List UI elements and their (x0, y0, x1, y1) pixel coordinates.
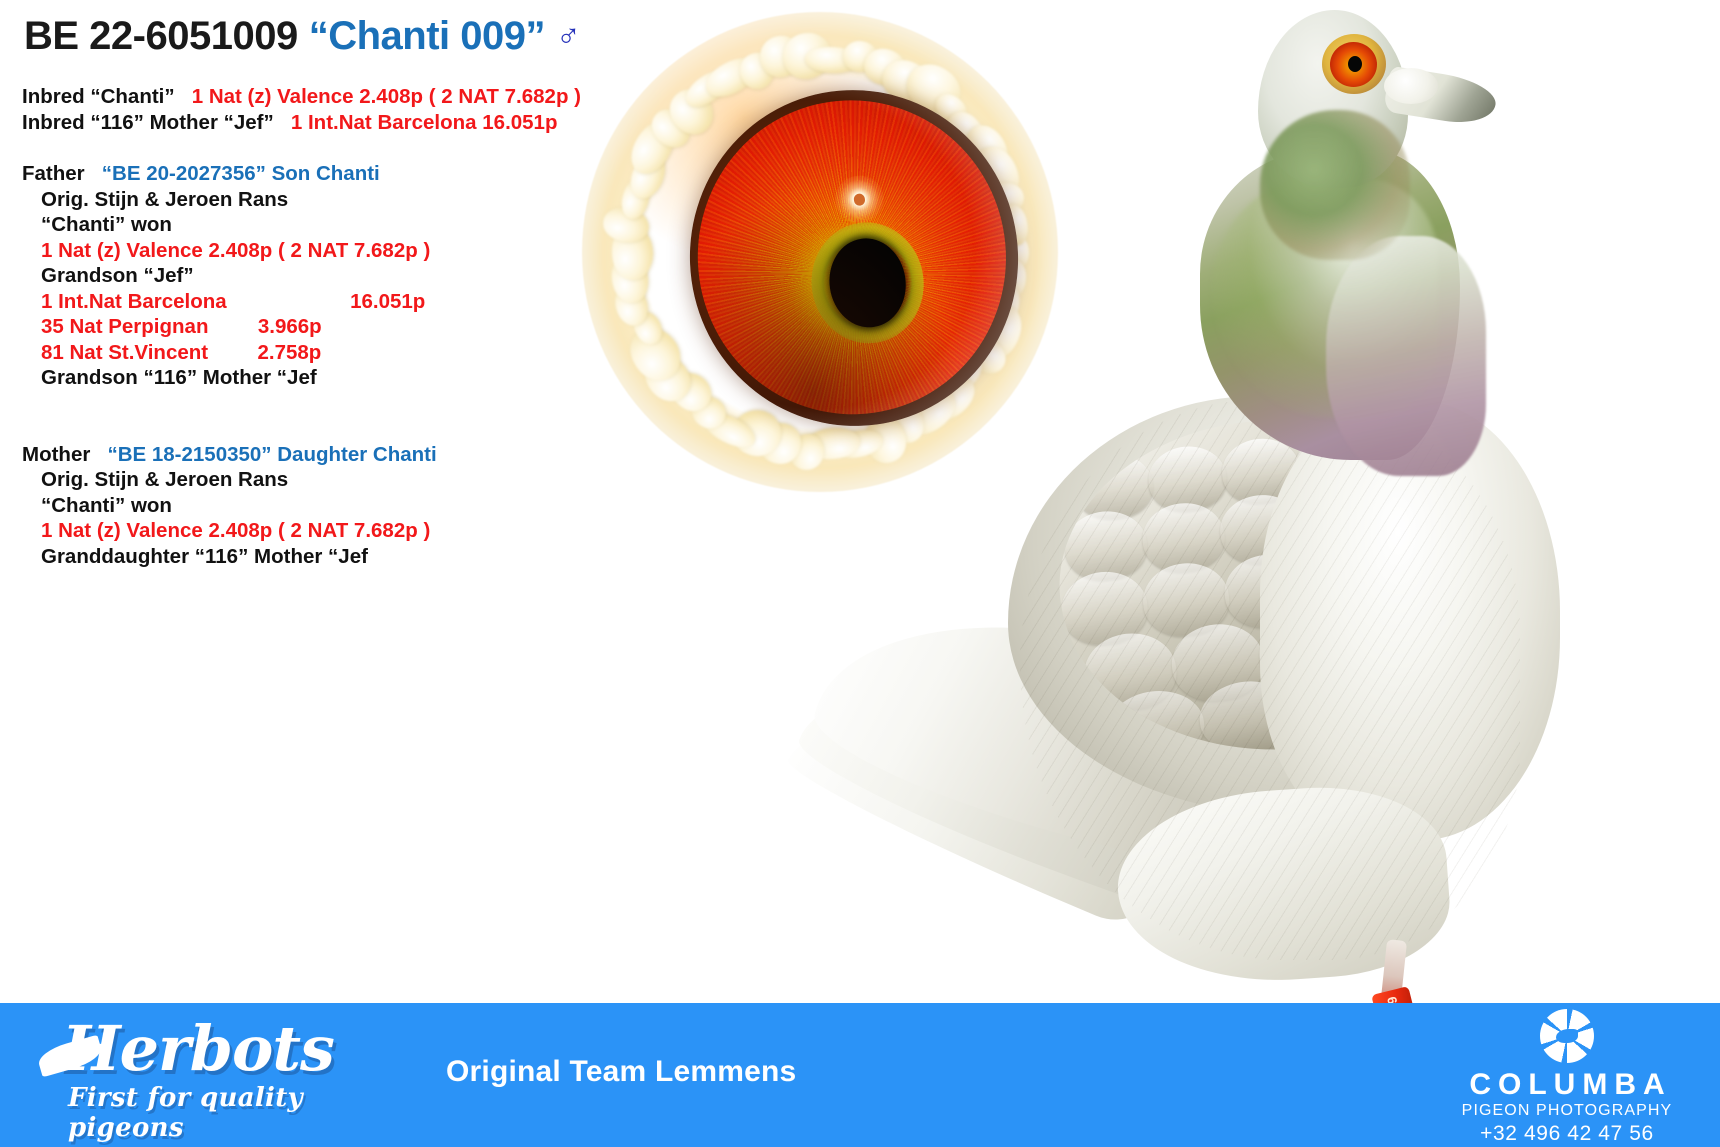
cere-bump (840, 38, 880, 75)
cere-bump (686, 390, 732, 435)
pigeon-head-sheen (1260, 110, 1410, 260)
spacer (22, 391, 662, 417)
cere-bump (788, 432, 824, 470)
cere-bump (999, 203, 1030, 247)
cere-bump (727, 403, 788, 462)
wing-feather (1062, 507, 1151, 583)
wing-feather (1288, 667, 1391, 747)
cere-bump (930, 88, 973, 130)
pigeon-neck-sheen (1212, 178, 1438, 418)
inbred-line: Inbred “116” Mother “Jef” 1 Int.Nat Barc… (22, 110, 662, 136)
cere-bump (700, 52, 763, 105)
mother-heading: Mother “BE 18-2150350” Daughter Chanti (22, 442, 662, 468)
columba-sub: PIGEON PHOTOGRAPHY (1442, 1101, 1692, 1121)
columba-logo[interactable]: COLUMBA PIGEON PHOTOGRAPHY +32 496 42 47… (1442, 1009, 1692, 1146)
cere-bump (943, 349, 989, 397)
pigeon-eye-pupil (1348, 56, 1362, 72)
cere-bump (781, 32, 832, 81)
mother-valence: 1 Nat (z) Valence 2.408p ( 2 NAT 7.682p … (22, 518, 662, 544)
wing-feather (1343, 601, 1442, 686)
cere-bump (680, 64, 734, 113)
father-grandson: Grandson “Jef” (22, 263, 662, 289)
father-ring: “BE 20-2027356” Son Chanti (102, 162, 380, 185)
cere-bump (897, 54, 968, 123)
ring-number: BE 22-6051009 (24, 14, 298, 59)
cere-bump (876, 52, 937, 110)
father-label: Father (22, 162, 85, 185)
father-closing: Grandson “116” Mother “Jef (22, 365, 662, 391)
cere-bump (926, 370, 982, 425)
wing-feather (1058, 568, 1151, 649)
pigeon-underbelly (1112, 779, 1454, 992)
father-heading: Father “BE 20-2027356” Son Chanti (22, 161, 662, 187)
mother-granddaughter: Granddaughter “116” Mother “Jef (22, 544, 662, 570)
wing-feather (1145, 443, 1229, 515)
father-valence: 1 Nat (z) Valence 2.408p ( 2 NAT 7.682p … (22, 238, 662, 264)
eye-green-ring (804, 216, 931, 351)
cere-bump (974, 178, 1027, 223)
pigeon-beak-wattle (1384, 68, 1438, 104)
pigeon-tail (787, 633, 1233, 918)
footer-bar: Herbots First for quality pigeons Origin… (0, 1003, 1720, 1147)
pigeon-flights (801, 576, 1305, 884)
spacer (22, 417, 662, 442)
cere-bump (699, 405, 760, 453)
pigeon-throat (1326, 236, 1486, 476)
pedigree-card: BE 22-6051009 “Chanti 009” ♂ Inbred “Cha… (0, 0, 1720, 1147)
eye-pupil (824, 233, 911, 332)
pigeon-head (1258, 10, 1408, 188)
wing-feather (1219, 435, 1303, 507)
father-chanti-won: “Chanti” won (22, 212, 662, 238)
pigeon-breast (1260, 400, 1560, 840)
cere-bump (960, 118, 1016, 178)
herbots-tagline: First for quality pigeons (62, 1083, 392, 1143)
race-name: 35 Nat Perpignan (41, 315, 208, 338)
cere-bump (757, 420, 805, 468)
cere-bump (735, 48, 779, 93)
cere-bump (977, 276, 1025, 332)
cere-bump (956, 327, 1013, 380)
eye-iris-grain (678, 80, 1027, 434)
wing-feather (1384, 533, 1477, 614)
race-birds: 16.051p (350, 290, 425, 313)
father-result-row: 81 Nat St.Vincent 2.758p (22, 340, 662, 366)
wing-feather (1196, 677, 1299, 757)
eye-globe (668, 69, 1040, 447)
race-birds: 2.758p (258, 341, 322, 364)
wing-feather (1221, 551, 1314, 632)
wing-feather (1379, 658, 1482, 738)
cere-bump (898, 382, 964, 443)
inbred-result: 1 Int.Nat Barcelona 16.051p (291, 111, 558, 134)
pigeon-body (1008, 396, 1528, 816)
pigeon-leg (1381, 939, 1407, 1001)
father-result-row: 1 Int.Nat Barcelona 16.051p (22, 289, 662, 315)
inbred-result: 1 Nat (z) Valence 2.408p ( 2 NAT 7.682p … (192, 85, 581, 108)
pigeon-wing-shield (1044, 398, 1506, 771)
pedigree-text-block: Inbred “Chanti” 1 Nat (z) Valence 2.408p… (22, 84, 662, 569)
pigeon-tail-lower (779, 674, 1193, 937)
cere-bump (882, 396, 931, 448)
father-origin: Orig. Stijn & Jeroen Rans (22, 187, 662, 213)
father-result-row: 35 Nat Perpignan 3.966p (22, 314, 662, 340)
camera-aperture-icon (1540, 1009, 1594, 1063)
eye-sparkle (831, 173, 886, 226)
cere-bump (966, 141, 1026, 208)
race-name: 81 Nat St.Vincent (41, 341, 208, 364)
wing-feather (1303, 542, 1396, 623)
cere-bump (664, 365, 719, 419)
columba-phone: +32 496 42 47 56 (1442, 1121, 1692, 1146)
cere-bump (859, 412, 913, 469)
cere-bump (833, 426, 885, 461)
race-name: 1 Int.Nat Barcelona (41, 290, 227, 313)
wing-feather (1139, 559, 1232, 640)
cere-bump (941, 105, 991, 156)
inbred-label: Inbred “Chanti” (22, 85, 175, 108)
wing-feather (1256, 611, 1355, 696)
race-birds: 3.966p (258, 315, 322, 338)
male-symbol-icon: ♂ (556, 17, 581, 55)
pigeon-eye-iris (1330, 42, 1377, 87)
mother-ring: “BE 18-2150350” Daughter Chanti (107, 443, 436, 466)
cere-bump (805, 46, 862, 76)
wing-feather (1081, 629, 1180, 714)
pigeon-feather-texture (1020, 400, 1520, 960)
cere-bump (661, 81, 722, 143)
wing-feather (1217, 491, 1306, 567)
columba-name: COLUMBA (1442, 1069, 1692, 1101)
herbots-logo[interactable]: Herbots First for quality pigeons (62, 1017, 392, 1135)
wing-feather (1139, 499, 1228, 575)
cere-bump (804, 426, 861, 461)
cere-bump (756, 32, 804, 80)
team-label: Original Team Lemmens (446, 1055, 796, 1089)
wing-feather (1105, 686, 1208, 766)
cere-bump (1003, 235, 1029, 269)
wing-feather (1292, 427, 1376, 499)
pigeon-name: “Chanti 009” (309, 14, 545, 59)
pigeon-eye-ring (1322, 34, 1386, 94)
eye-shadow (668, 69, 1040, 447)
eye-iris (678, 80, 1027, 434)
spacer (22, 135, 662, 161)
wing-feather (1168, 620, 1267, 705)
wing-feather (1294, 483, 1383, 559)
inbred-label: Inbred “116” Mother “Jef” (22, 111, 274, 134)
cere-bump (859, 43, 910, 91)
herbots-brand-name: Herbots (62, 1017, 392, 1081)
inbred-line: Inbred “Chanti” 1 Nat (z) Valence 2.408p… (22, 84, 662, 110)
pigeon-neck (1200, 150, 1460, 460)
page-title: BE 22-6051009 “Chanti 009” ♂ (24, 14, 581, 59)
mother-origin: Orig. Stijn & Jeroen Rans (22, 467, 662, 493)
wing-feather (1072, 450, 1156, 522)
cere-bump (992, 256, 1028, 301)
cere-bump (970, 298, 1030, 365)
pigeon-beak (1383, 66, 1499, 129)
wing-feather (1366, 419, 1450, 491)
mother-chanti-won: “Chanti” won (22, 493, 662, 519)
wing-feather (1372, 475, 1461, 551)
mother-label: Mother (22, 443, 90, 466)
